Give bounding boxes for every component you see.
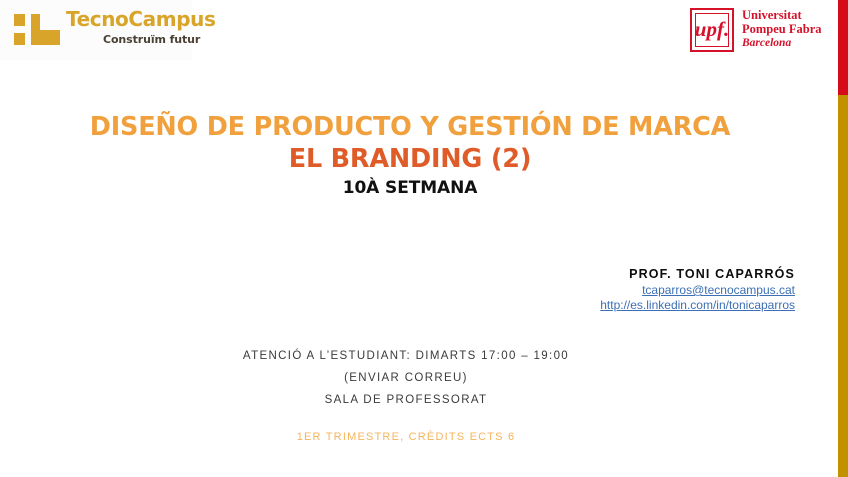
title-line-week: 10À SETMANA	[0, 176, 820, 200]
office-hours-note: (ENVIAR CORREU)	[0, 367, 812, 389]
professor-name: PROF. TONI CAPARRÓS	[430, 266, 795, 283]
professor-block: PROF. TONI CAPARRÓS tcaparros@tecnocampu…	[430, 266, 795, 313]
professor-linkedin-link[interactable]: http://es.linkedin.com/in/tonicaparros	[430, 298, 795, 313]
upf-mark-text: upf.	[692, 19, 732, 40]
title-line-course: DISEÑO DE PRODUCTO Y GESTIÓN DE MARCA	[0, 112, 820, 142]
tecnocampus-squares-icon	[14, 13, 60, 47]
tecnocampus-tagline: Construïm futur	[103, 34, 200, 45]
tecnocampus-wordmark: TecnoCampus	[66, 9, 215, 29]
upf-line-pompeu-fabra: Pompeu Fabra	[742, 23, 832, 37]
upf-mark-box: upf.	[690, 8, 734, 52]
office-hours-location: SALA DE PROFESSORAT	[0, 389, 812, 411]
edge-bar-red	[838, 0, 848, 95]
page-title: DISEÑO DE PRODUCTO Y GESTIÓN DE MARCA EL…	[0, 112, 820, 200]
title-line-topic: EL BRANDING (2)	[0, 142, 820, 176]
office-hours-schedule: ATENCIÓ A L’ESTUDIANT: DIMARTS 17:00 – 1…	[0, 345, 812, 367]
tecnocampus-logo: TecnoCampus Construïm futur	[0, 0, 192, 60]
upf-line-barcelona: Barcelona	[742, 36, 832, 50]
slide-canvas: TecnoCampus Construïm futur upf. Univers…	[0, 0, 848, 477]
upf-logo-text: Universitat Pompeu Fabra Barcelona	[742, 9, 832, 50]
office-hours-block: ATENCIÓ A L’ESTUDIANT: DIMARTS 17:00 – 1…	[0, 345, 812, 411]
footer-credits: 1ER TRIMESTRE, CRÈDITS ECTS 6	[0, 429, 812, 445]
edge-bar-gold	[838, 95, 848, 477]
professor-email-link[interactable]: tcaparros@tecnocampus.cat	[430, 283, 795, 298]
upf-logo: upf. Universitat Pompeu Fabra Barcelona	[690, 8, 830, 54]
upf-line-universitat: Universitat	[742, 9, 832, 23]
